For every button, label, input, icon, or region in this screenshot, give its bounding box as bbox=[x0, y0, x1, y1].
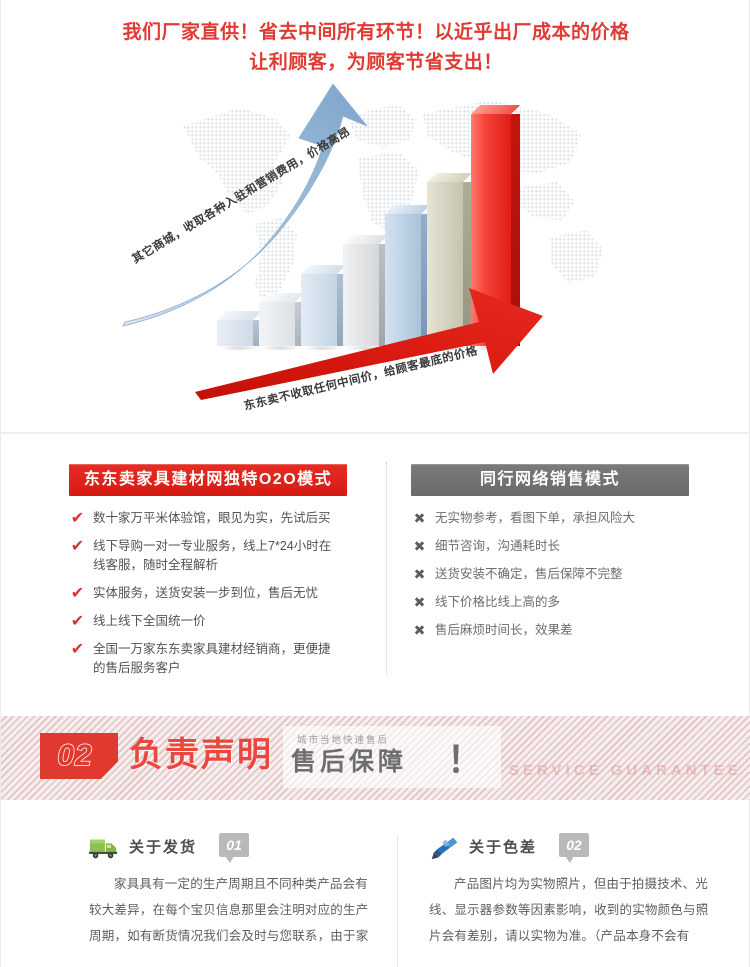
disadvantage-list: ✖ 无实物参考，看图下单，承担风险大 ✖ 细节咨询，沟通耗时长 ✖ 送货安装不确… bbox=[411, 509, 711, 640]
comparison-column-ours: 东东卖家具建材网独特O2O模式 ✔ 数十家万平米体验馆，眼见为实，先试后买 ✔ … bbox=[69, 464, 369, 687]
check-icon: ✔ bbox=[69, 538, 86, 555]
list-item: ✔ 线下导购一对一专业服务，线上7*24小时在线客服，随时全程解析 bbox=[69, 537, 341, 575]
cross-icon: ✖ bbox=[411, 510, 428, 527]
card-header: 关于发货 01 bbox=[89, 833, 394, 867]
list-item: ✔ 全国一万家东东卖家具建材经销商，更便捷的售后服务客户 bbox=[69, 640, 341, 678]
check-icon: ✔ bbox=[69, 641, 86, 658]
card-badge-number: 01 bbox=[219, 833, 249, 857]
headline-line-1: 我们厂家直供！省去中间所有环节！以近乎出厂成本的价格 bbox=[1, 18, 750, 48]
list-item-label: 实体服务，送货安装一步到位，售后无忧 bbox=[93, 586, 318, 600]
check-icon: ✔ bbox=[69, 510, 86, 527]
banner-ghost-text: SERVICE GUARANTEE bbox=[509, 762, 742, 779]
striped-banner: 02 02 负责声明 城市当地快速售后 售后保障 ！ SERVICE GUARA… bbox=[1, 716, 750, 800]
list-item-label: 数十家万平米体验馆，眼见为实，先试后买 bbox=[93, 511, 331, 525]
list-item-label: 线下导购一对一专业服务，线上7*24小时在线客服，随时全程解析 bbox=[93, 539, 331, 572]
banner-title: 负责声明 bbox=[129, 733, 273, 777]
cross-icon: ✖ bbox=[411, 622, 428, 639]
product-detail-page: 我们厂家直供！省去中间所有环节！以近乎出厂成本的价格 让利顾客，为顾客节省支出！ bbox=[0, 0, 750, 967]
cross-icon: ✖ bbox=[411, 538, 428, 555]
list-item: ✖ 无实物参考，看图下单，承担风险大 bbox=[411, 509, 683, 528]
section-number-tag: 02 02 bbox=[40, 733, 118, 779]
list-item-label: 送货安装不确定，售后保障不完整 bbox=[435, 567, 623, 581]
service-banner-section: 02 02 负责声明 城市当地快速售后 售后保障 ！ SERVICE GUARA… bbox=[0, 701, 750, 815]
list-item: ✖ 送货安装不确定，售后保障不完整 bbox=[411, 565, 683, 584]
list-item: ✔ 数十家万平米体验馆，眼见为实，先试后买 bbox=[69, 509, 341, 528]
list-item-label: 细节咨询，沟通耗时长 bbox=[435, 539, 560, 553]
card-body-text: 家具具有一定的生产周期且不同种类产品会有较大差异，在每个宝贝信息那里会注明对应的… bbox=[89, 871, 379, 949]
list-item: ✔ 实体服务，送货安装一步到位，售后无忧 bbox=[69, 584, 341, 603]
card-badge: 01 bbox=[219, 833, 249, 864]
banner-subtitle-exclamation: ！ bbox=[447, 738, 483, 782]
check-icon: ✔ bbox=[69, 613, 86, 630]
hero-headline: 我们厂家直供！省去中间所有环节！以近乎出厂成本的价格 让利顾客，为顾客节省支出！ bbox=[1, 18, 750, 78]
list-item: ✖ 线下价格比线上高的多 bbox=[411, 593, 683, 612]
list-item-label: 线上线下全国统一价 bbox=[93, 614, 206, 628]
list-item-label: 全国一万家东东卖家具建材经销商，更便捷的售后服务客户 bbox=[93, 642, 331, 675]
list-item: ✔ 线上线下全国统一价 bbox=[69, 612, 341, 631]
card-body-text: 产品图片均为实物照片，但由于拍摄技术、光线、显示器参数等因素影响，收到的实物颜色… bbox=[429, 871, 719, 949]
list-item: ✖ 售后麻烦时间长，效果差 bbox=[411, 621, 683, 640]
paint-brush-icon bbox=[429, 835, 459, 861]
cross-icon: ✖ bbox=[411, 566, 428, 583]
card-badge: 02 bbox=[559, 833, 589, 864]
info-card-shipping: 关于发货 01 家具具有一定的生产周期且不同种类产品会有较大差异，在每个宝贝信息… bbox=[89, 833, 394, 949]
advantage-list: ✔ 数十家万平米体验馆，眼见为实，先试后买 ✔ 线下导购一对一专业服务，线上7*… bbox=[69, 509, 369, 678]
list-item-label: 线下价格比线上高的多 bbox=[435, 595, 560, 609]
cards-divider bbox=[397, 835, 398, 967]
list-item-label: 无实物参考，看图下单，承担风险大 bbox=[435, 511, 635, 525]
hero-chart-section: 我们厂家直供！省去中间所有环节！以近乎出厂成本的价格 让利顾客，为顾客节省支出！ bbox=[0, 0, 750, 432]
card-badge-number: 02 bbox=[559, 833, 589, 857]
cross-icon: ✖ bbox=[411, 594, 428, 611]
check-icon: ✔ bbox=[69, 585, 86, 602]
banner-subtitle: 售后保障 bbox=[291, 745, 407, 779]
list-item: ✖ 细节咨询，沟通耗时长 bbox=[411, 537, 683, 556]
list-item-label: 售后麻烦时间长，效果差 bbox=[435, 623, 573, 637]
comparison-column-competitor: 同行网络销售模式 ✖ 无实物参考，看图下单，承担风险大 ✖ 细节咨询，沟通耗时长… bbox=[411, 464, 711, 649]
info-cards-section: 关于发货 01 家具具有一定的生产周期且不同种类产品会有较大差异，在每个宝贝信息… bbox=[0, 815, 750, 967]
info-card-color: 关于色差 02 产品图片均为实物照片，但由于拍摄技术、光线、显示器参数等因素影响… bbox=[429, 833, 734, 949]
headline-line-2: 让利顾客，为顾客节省支出！ bbox=[1, 48, 750, 78]
section-number: 02 bbox=[46, 736, 104, 776]
comparison-header-competitor: 同行网络销售模式 bbox=[411, 464, 689, 496]
comparison-section: 东东卖家具建材网独特O2O模式 ✔ 数十家万平米体验馆，眼见为实，先试后买 ✔ … bbox=[0, 433, 750, 701]
card-header: 关于色差 02 bbox=[429, 833, 734, 867]
truck-icon bbox=[89, 835, 119, 861]
card-title: 关于发货 bbox=[129, 836, 197, 857]
banner-subtitle-small: 城市当地快速售后 bbox=[297, 732, 389, 746]
comparison-divider bbox=[386, 462, 387, 674]
card-title: 关于色差 bbox=[469, 836, 537, 857]
comparison-header-ours: 东东卖家具建材网独特O2O模式 bbox=[69, 464, 347, 496]
